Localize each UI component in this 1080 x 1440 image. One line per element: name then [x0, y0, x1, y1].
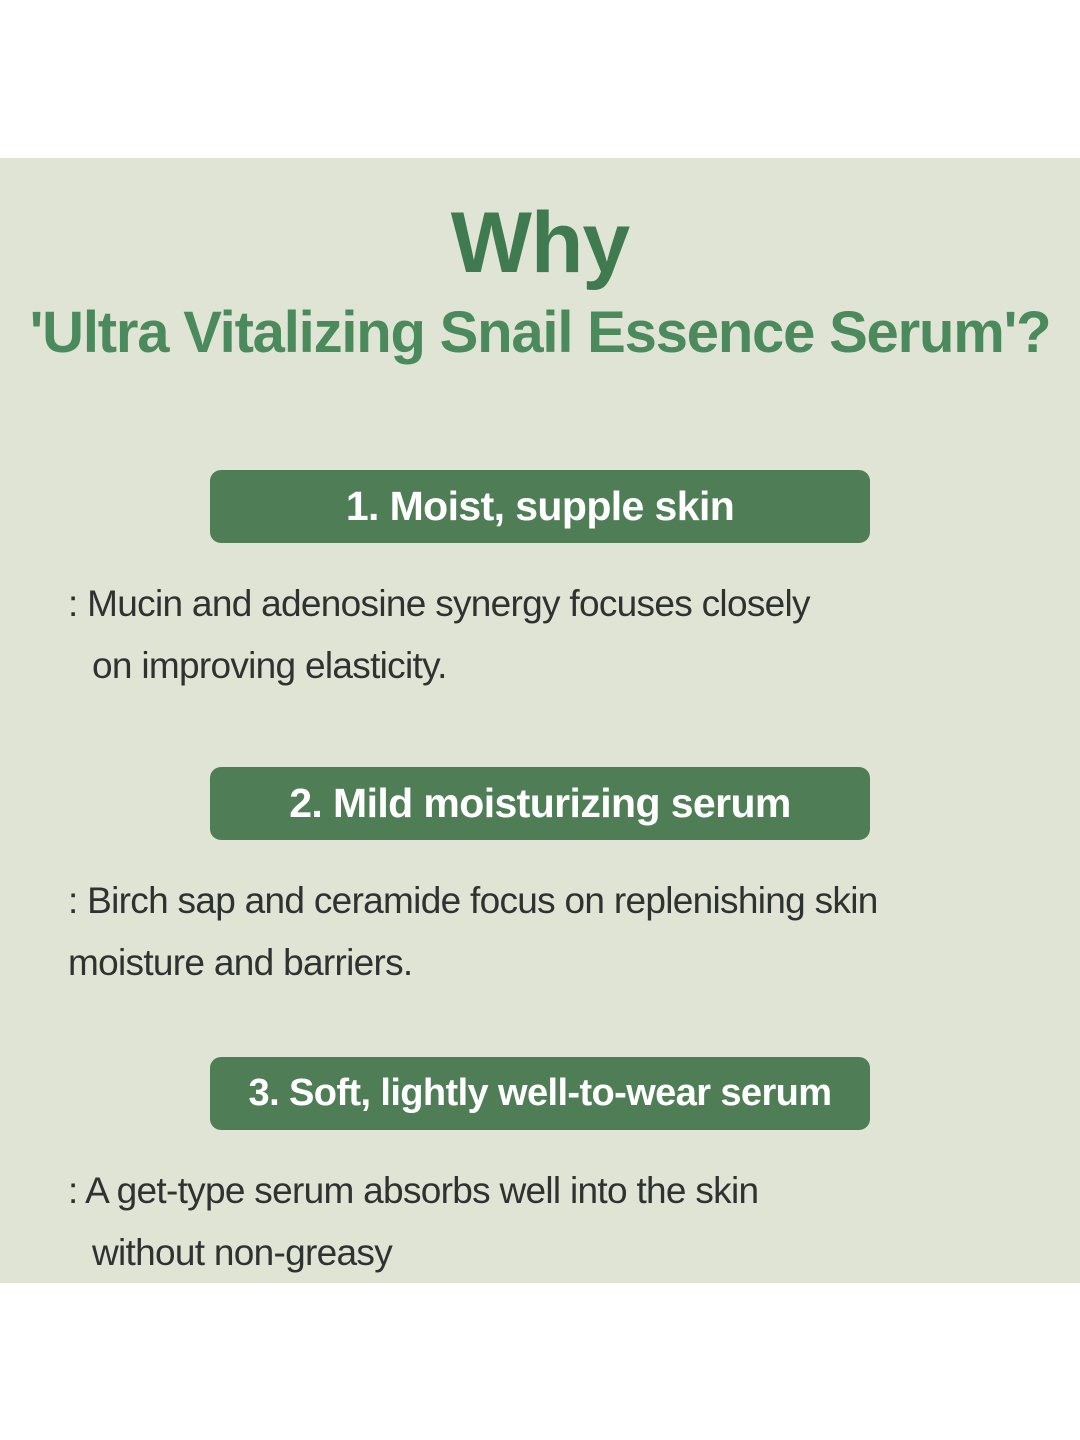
- page-subtitle: 'Ultra Vitalizing Snail Essence Serum'?: [0, 302, 1080, 365]
- benefit-section-2: 2. Mild moisturizing serum : Birch sap a…: [0, 767, 1080, 994]
- benefit-body-3: : A get-type serum absorbs well into the…: [0, 1160, 1080, 1284]
- benefit-pill-3: 3. Soft, lightly well-to-wear serum: [210, 1057, 870, 1130]
- benefit-section-1: 1. Moist, supple skin : Mucin and adenos…: [0, 470, 1080, 697]
- section-spacer: [0, 995, 1080, 1057]
- benefit-body-line: without non-greasy: [68, 1222, 1040, 1284]
- benefit-sections: 1. Moist, supple skin : Mucin and adenos…: [0, 470, 1080, 1284]
- content-panel: Why 'Ultra Vitalizing Snail Essence Seru…: [0, 158, 1080, 1283]
- benefit-pill-2: 2. Mild moisturizing serum: [210, 767, 870, 840]
- benefit-pill-label-1: 1. Moist, supple skin: [346, 486, 734, 527]
- benefit-body-line: : Birch sap and ceramide focus on replen…: [68, 870, 1040, 932]
- benefit-body-line: moisture and barriers.: [68, 932, 1040, 994]
- benefit-body-line: on improving elasticity.: [68, 635, 1040, 697]
- benefit-section-3: 3. Soft, lightly well-to-wear serum : A …: [0, 1057, 1080, 1284]
- benefit-body-2: : Birch sap and ceramide focus on replen…: [0, 870, 1080, 994]
- page-title: Why: [0, 200, 1080, 286]
- benefit-pill-1: 1. Moist, supple skin: [210, 470, 870, 543]
- section-spacer: [0, 697, 1080, 767]
- benefit-body-line: : A get-type serum absorbs well into the…: [68, 1160, 1040, 1222]
- page-root: Why 'Ultra Vitalizing Snail Essence Seru…: [0, 0, 1080, 1440]
- benefit-body-line: : Mucin and adenosine synergy focuses cl…: [68, 573, 1040, 635]
- benefit-pill-label-2: 2. Mild moisturizing serum: [289, 783, 791, 824]
- title-block: Why 'Ultra Vitalizing Snail Essence Seru…: [0, 200, 1080, 365]
- benefit-body-1: : Mucin and adenosine synergy focuses cl…: [0, 573, 1080, 697]
- benefit-pill-label-3: 3. Soft, lightly well-to-wear serum: [249, 1074, 832, 1112]
